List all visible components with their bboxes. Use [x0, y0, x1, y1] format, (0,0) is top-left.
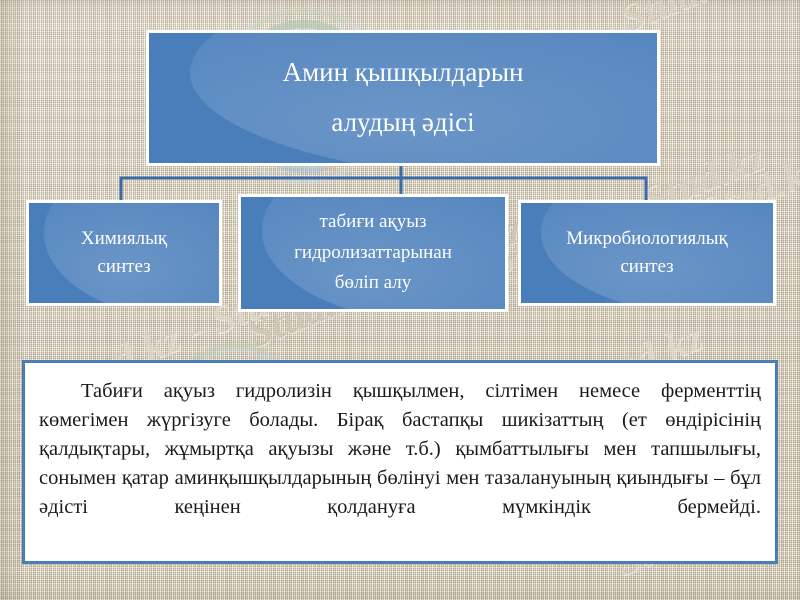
org-node-microbiological-synthesis[interactable]: Микробиологиялық синтез — [518, 200, 776, 306]
org-node-microbiological-synthesis-line1: Микробиологиялық — [521, 225, 773, 253]
org-node-chemical-synthesis-line2: синтез — [29, 253, 219, 281]
slide-canvas: Stud.kz - Stud.kz Stud.kz - Stud.kz Stud… — [0, 0, 800, 600]
body-paragraph: Табиғи ақуыз гидролизін қышқылмен, сілті… — [39, 377, 761, 552]
org-node-chemical-synthesis-line1: Химиялық — [29, 225, 219, 253]
org-node-chemical-synthesis[interactable]: Химиялық синтез — [26, 200, 222, 306]
org-node-root[interactable]: Амин қышқылдарын алудың әдісі — [146, 30, 660, 166]
org-node-natural-protein-hydrolysate-line2: гидролизаттарынан — [241, 238, 505, 269]
org-node-natural-protein-hydrolysate-line1: табиғи ақуыз — [241, 207, 505, 238]
org-node-microbiological-synthesis-line2: синтез — [521, 253, 773, 281]
org-node-root-line2: алудың әдісі — [149, 98, 657, 148]
body-text-box: Табиғи ақуыз гидролизін қышқылмен, сілті… — [22, 360, 778, 564]
org-node-root-line1: Амин қышқылдарын — [149, 48, 657, 98]
org-node-natural-protein-hydrolysate[interactable]: табиғи ақуыз гидролизаттарынан бөліп алу — [238, 194, 508, 312]
org-node-natural-protein-hydrolysate-line3: бөліп алу — [241, 268, 505, 299]
